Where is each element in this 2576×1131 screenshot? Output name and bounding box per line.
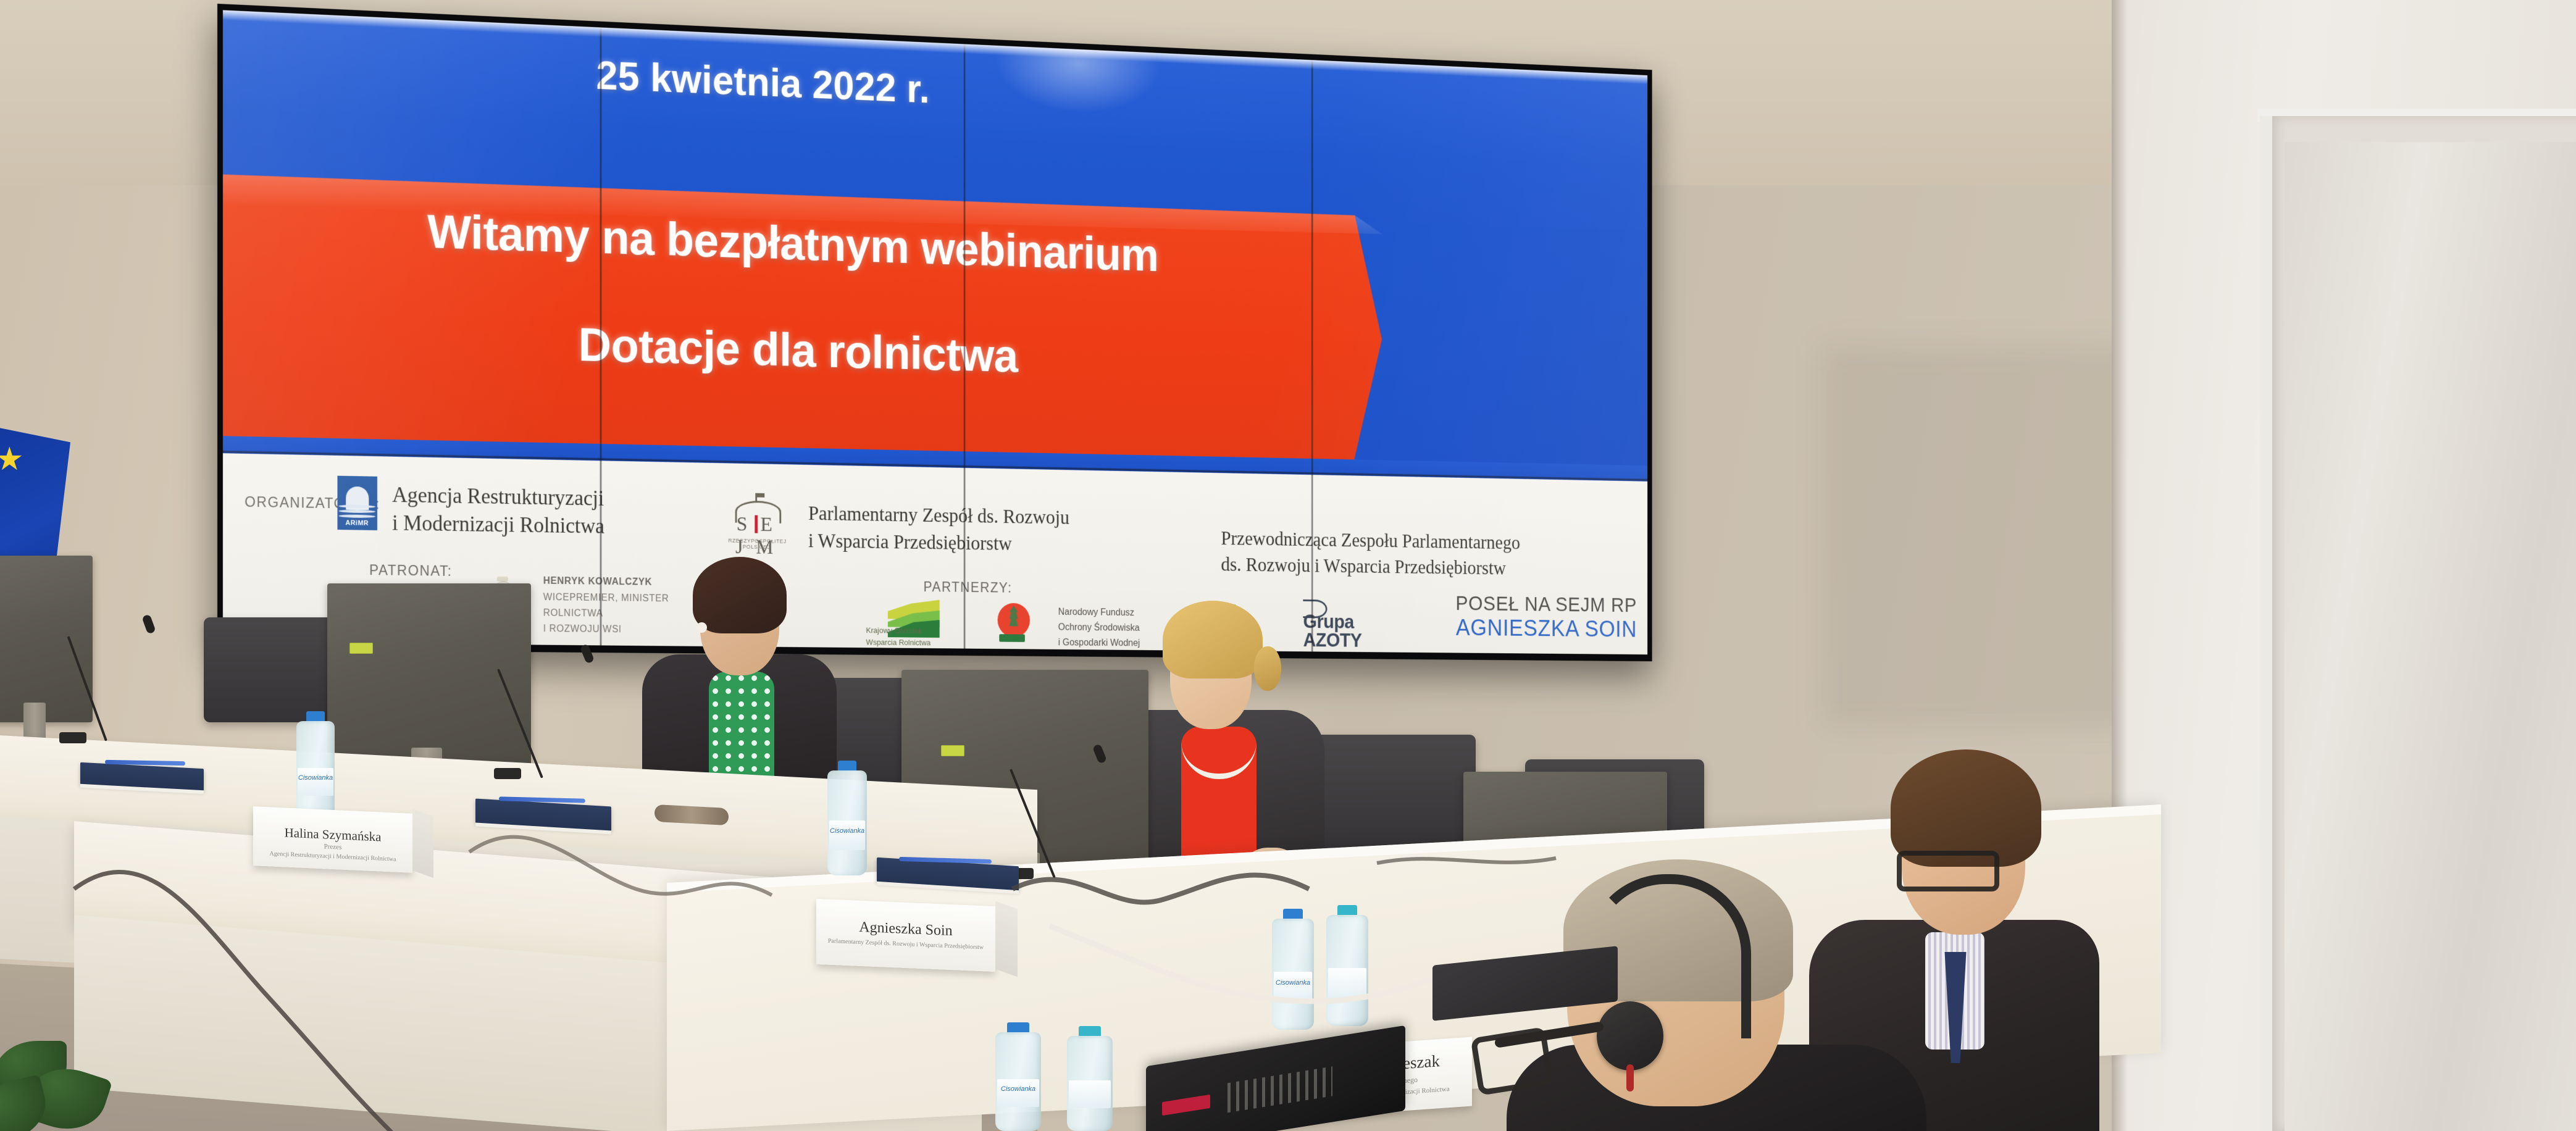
- speaker-role-line2: ds. Rozwoju i Wsparcia Przedsiębiorstw: [1221, 552, 1637, 583]
- bottle-label: [1069, 1080, 1111, 1108]
- nameplate-center-side: [995, 901, 1018, 977]
- monitor-screen: [0, 556, 93, 722]
- video-wall[interactable]: 25 kwietnia 2022 r. Witamy na bezpłatnym…: [217, 4, 1652, 661]
- nameplate-left-side: [412, 809, 433, 878]
- panel-seam-vertical: [963, 44, 966, 648]
- bottle-label: [1328, 968, 1367, 1000]
- water-bottle[interactable]: Cisowianka: [296, 711, 335, 820]
- bottle-label: [997, 1079, 1039, 1108]
- earring: [696, 622, 707, 633]
- arimr-logo-caption: ARiMR: [337, 519, 377, 527]
- arimr-logo: ARiMR: [337, 475, 377, 530]
- water-bottle[interactable]: Cisowianka: [995, 1022, 1041, 1131]
- woman-hair: [693, 557, 787, 633]
- microphone-base: [59, 732, 86, 743]
- bottle-brand: Cisowianka: [827, 827, 867, 835]
- microphone-base: [494, 768, 521, 779]
- arimr-name: Agencja Restrukturyzacji i Modernizacji …: [392, 481, 706, 542]
- water-bottle[interactable]: Cisowianka: [827, 761, 867, 875]
- bottle-brand: Cisowianka: [1272, 979, 1314, 987]
- headset-cable: [1626, 1064, 1634, 1091]
- patronage-label: PATRONAT:: [369, 562, 452, 579]
- asset-tag-sticker: [349, 643, 373, 654]
- panel-seam-vertical: [600, 27, 602, 645]
- water-bottle[interactable]: [1067, 1026, 1113, 1131]
- blonde-hair-bun: [1254, 646, 1281, 691]
- panel-seam-vertical: [1311, 60, 1313, 651]
- nameplate-center: Agnieszka Soin Parlamentarny Zespół ds. …: [816, 899, 995, 972]
- arimr-field-line: [339, 509, 375, 513]
- arimr-field-line: [339, 504, 375, 508]
- bottle-label: [829, 820, 866, 850]
- pz-name-line2: i Wsparcia Przedsiębiorstw: [808, 528, 1163, 560]
- sejm-flag-shape: [757, 493, 764, 497]
- wall-shadow: [1821, 346, 2143, 728]
- eagle-crown: [497, 577, 508, 582]
- headset-earcup: [1597, 1001, 1663, 1070]
- water-bottle[interactable]: Cisowianka: [1272, 909, 1314, 1030]
- partners-label: PARTNERZY:: [924, 579, 1013, 596]
- bottle-brand: Cisowianka: [995, 1085, 1041, 1093]
- parliamentary-team-name: Parlamentarny Zespół ds. Rozwoju i Wspar…: [808, 501, 1163, 560]
- sejm-logo: S E J M RZECZYPOSPOLITEJ POLSKIEJ: [728, 490, 784, 548]
- asset-tag-sticker: [941, 745, 964, 756]
- conference-room-photo: 25 kwietnia 2022 r. Witamy na bezpłatnym…: [0, 0, 2576, 1131]
- nfosigw-soil-shape: [1000, 634, 1025, 642]
- eyeglasses-lens: [1470, 1027, 1554, 1096]
- speaker-role: Przewodnicząca Zespołu Parlamentarnego d…: [1221, 526, 1637, 583]
- bottle-label: [298, 768, 333, 796]
- blonde-hair: [1163, 601, 1263, 678]
- chair[interactable]: [1309, 735, 1476, 858]
- nfosigw-logo: [997, 603, 1032, 642]
- video-wall-screen: 25 kwietnia 2022 r. Witamy na bezpłatnym…: [223, 10, 1647, 654]
- bottle-brand: Cisowianka: [296, 774, 335, 782]
- door-panel[interactable]: [2285, 142, 2576, 1131]
- water-bottle[interactable]: [1326, 905, 1368, 1026]
- control-panel-display: [1162, 1095, 1210, 1116]
- potted-plant: [0, 1030, 136, 1131]
- monitor[interactable]: [0, 556, 93, 722]
- chair[interactable]: [204, 617, 333, 722]
- eu-flag-star: ★: [0, 443, 24, 475]
- sejm-red-bar: [755, 515, 758, 533]
- nameplate-left: Halina Szymańska Prezes Agencji Restrukt…: [253, 806, 412, 873]
- control-panel-buttons[interactable]: [1227, 1066, 1332, 1112]
- arimr-field-line: [339, 514, 375, 518]
- bottle-label: [1274, 972, 1313, 1003]
- arimr-name-line2: i Modernizacji Rolnictwa: [392, 509, 706, 542]
